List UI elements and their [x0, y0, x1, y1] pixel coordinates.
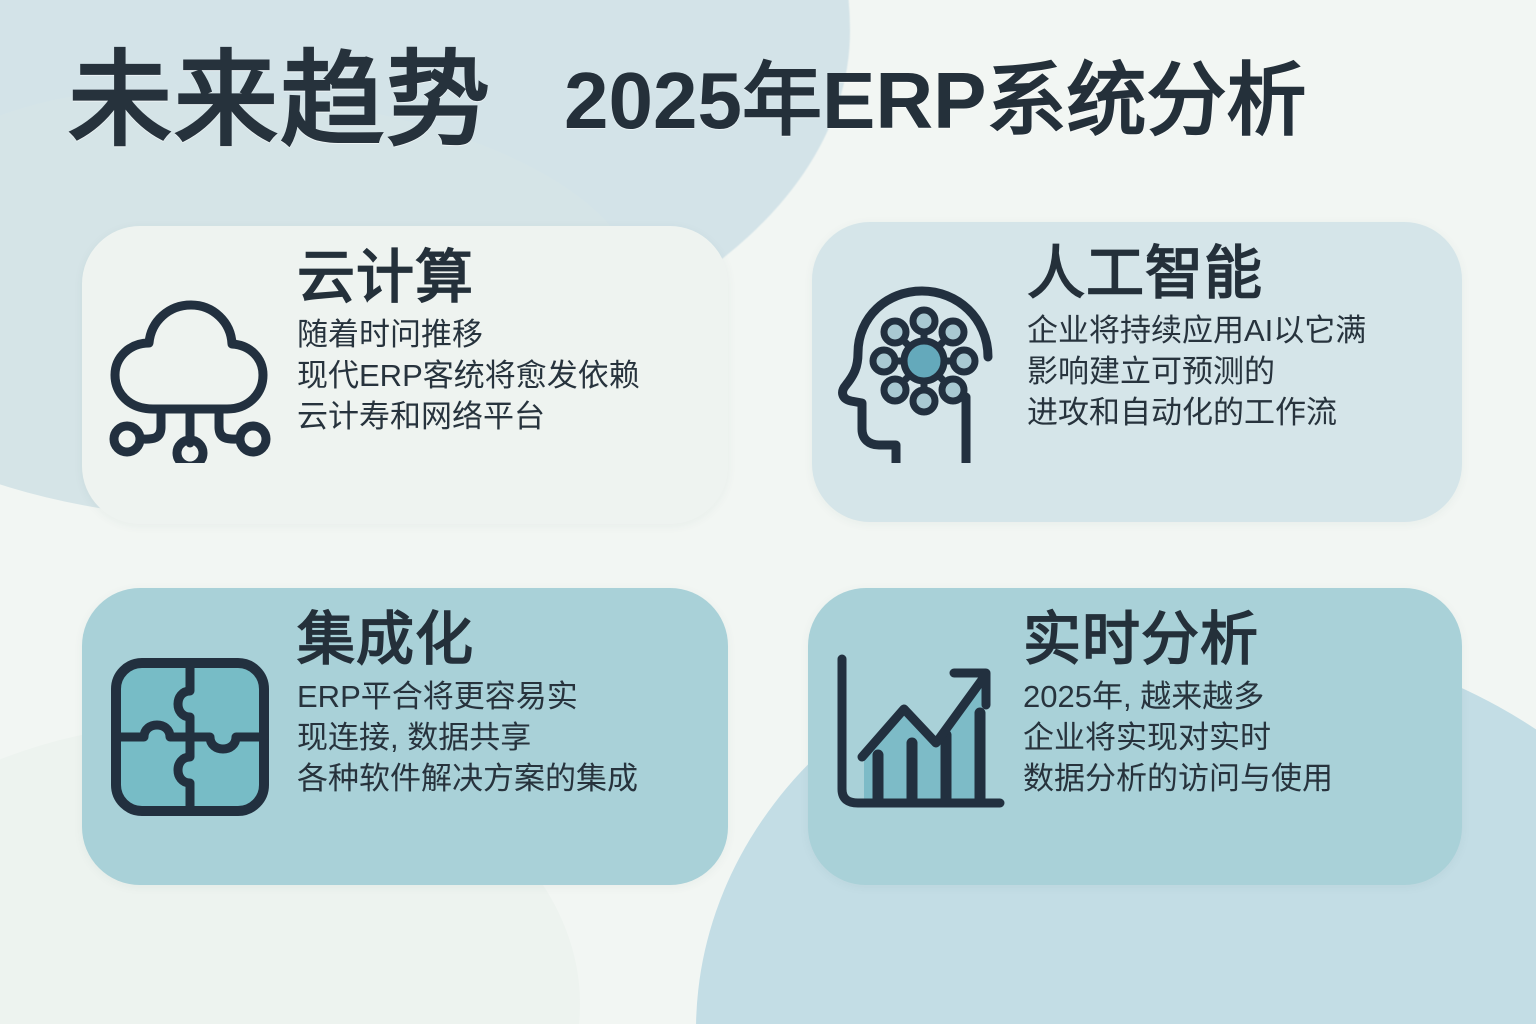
- page-subtitle: 2025年ERP系统分析: [564, 61, 1306, 141]
- growth-chart-icon: [808, 588, 1023, 885]
- card-title: 集成化: [297, 610, 704, 671]
- poster-header: 未来趋势 2025年ERP系统分析: [0, 36, 1536, 166]
- card-description-line: 现代ERP客统将愈发依赖: [297, 356, 704, 397]
- card-description-line: 影响建立可预测的: [1027, 352, 1438, 393]
- infographic-poster: 未来趋势 2025年ERP系统分析 云计算 随着时问推移 现代ERP客统将愈发依…: [0, 0, 1536, 1024]
- card-body: 人工智能 企业将持续应用AI以它满 影响建立可预测的 进攻和自动化的工作流: [1027, 222, 1462, 434]
- card-body: 实时分析 2025年, 越来越多 企业将实现对实时 数据分析的访问与使用: [1023, 588, 1462, 800]
- card-description-line: 企业将持续应用AI以它满: [1027, 311, 1438, 352]
- card-title: 人工智能: [1027, 244, 1438, 305]
- card-body: 集成化 ERP平合将更容易实 现连接, 数据共享 各种软件解决方案的集成: [297, 588, 728, 800]
- brain-ai-icon: [812, 222, 1027, 522]
- cloud-network-icon: [82, 226, 297, 524]
- card-description: 随着时问推移 现代ERP客统将愈发依赖 云计寿和网络平台: [297, 315, 704, 438]
- card-description: 企业将持续应用AI以它满 影响建立可预测的 进攻和自动化的工作流: [1027, 311, 1438, 434]
- card-description-line: ERP平合将更容易实: [297, 677, 704, 718]
- puzzle-icon: [82, 588, 297, 885]
- card-description-line: 进攻和自动化的工作流: [1027, 393, 1438, 434]
- card-realtime-analytics: 实时分析 2025年, 越来越多 企业将实现对实时 数据分析的访问与使用: [808, 588, 1462, 885]
- card-cloud-computing: 云计算 随着时问推移 现代ERP客统将愈发依赖 云计寿和网络平台: [82, 226, 728, 524]
- page-title: 未来趋势: [68, 49, 492, 153]
- card-description-line: 各种软件解决方案的集成: [297, 759, 704, 800]
- card-body: 云计算 随着时问推移 现代ERP客统将愈发依赖 云计寿和网络平台: [297, 226, 728, 438]
- card-description-line: 云计寿和网络平台: [297, 397, 704, 438]
- card-title: 云计算: [297, 248, 704, 309]
- card-artificial-intelligence: 人工智能 企业将持续应用AI以它满 影响建立可预测的 进攻和自动化的工作流: [812, 222, 1462, 522]
- card-title: 实时分析: [1023, 610, 1438, 671]
- card-description-line: 随着时问推移: [297, 315, 704, 356]
- card-description: 2025年, 越来越多 企业将实现对实时 数据分析的访问与使用: [1023, 677, 1438, 800]
- card-description-line: 2025年, 越来越多: [1023, 677, 1438, 718]
- card-description-line: 数据分析的访问与使用: [1023, 759, 1438, 800]
- card-integration: 集成化 ERP平合将更容易实 现连接, 数据共享 各种软件解决方案的集成: [82, 588, 728, 885]
- card-description-line: 现连接, 数据共享: [297, 718, 704, 759]
- card-description: ERP平合将更容易实 现连接, 数据共享 各种软件解决方案的集成: [297, 677, 704, 800]
- card-description-line: 企业将实现对实时: [1023, 718, 1438, 759]
